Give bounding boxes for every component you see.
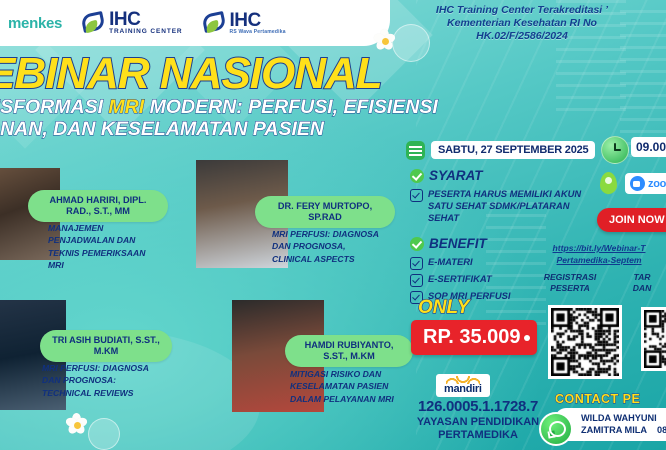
qr-code-tarif[interactable] [641,307,666,371]
speaker-2-name: DR. FERY MURTOPO, SP.RAD [255,196,395,228]
speaker-4-name: HAMDI RUBIYANTO, S.ST., M.KM [285,335,413,367]
contact-row-1: WILDA WAHYUNI 08 [581,412,666,424]
bubble-decor-2 [88,418,120,450]
mandiri-bank-logo: mandiri [436,374,490,397]
kemenkes-logo: menkes [8,15,62,32]
calendar-icon [406,141,425,160]
syarat-item-text: PESERTA HARUS MEMILIKI AKUN SATU SEHAT S… [428,188,590,225]
speaker-1-topic: MANAJEMEN PENJADWALAN DAN TEKNIS PEMERIK… [48,222,158,272]
speaker-2-topic: MRI PERFUSI: DIAGNOSA DAN PROGNOSA, CLIN… [272,228,382,265]
webinar-poster: menkes IHC TRAINING CENTER IHC RS Wava P… [0,0,666,450]
subtitle-highlight: MRI [108,96,144,118]
check-circle-icon-benefit [410,237,424,251]
zoom-icon [630,176,645,191]
contact-person-card: WILDA WAHYUNI 08 ZAMITRA MILA 08 [555,408,666,441]
zoom-label: zoo [648,178,666,190]
benefit-item-text-2: E-SERTIFIKAT [428,273,492,287]
price-amount: RP. 35.009 [411,320,537,355]
speaker-3-name: TRI ASIH BUDIATI, S.ST., M.KM [40,330,172,362]
checkbox-icon-syarat-1 [410,189,423,202]
bank-account-name: YAYASAN PENDIDIKAN PERTAMEDIKA [396,416,560,441]
mandiri-label: mandiri [444,384,482,395]
checkbox-icon-benefit-1 [410,257,423,270]
registration-link-block[interactable]: https://bit.ly/Webinar-T Pertamedika-Sep… [524,243,666,266]
event-date: SABTU, 27 SEPTEMBER 2025 [431,141,595,159]
registration-link-line-2[interactable]: Pertamedika-Septem [524,255,666,267]
location-pin-icon [600,172,617,194]
ihc-training-center-logo: IHC TRAINING CENTER [80,10,182,36]
poster-heading: EBINAR NASIONAL [0,52,406,95]
price-only-label: ONLY [418,297,469,319]
syarat-item: PESERTA HARUS MEMILIKI AKUN SATU SEHAT S… [410,188,590,225]
qr-code-registration[interactable] [548,305,622,379]
speaker-1-name: AHMAD HARIRI, DIPL. RAD., S.T., MM [28,190,168,222]
poster-title-block: EBINAR NASIONAL NSFORMASI MRI MODERN: PE… [0,52,406,141]
clock-icon [601,136,629,164]
benefit-item-text-1: E-MATERI [428,256,473,270]
contact-person-block: CONTACT PE WILDA WAHYUNI 08 ZAMITRA MILA… [555,392,666,441]
subtitle-line-2: ANAN, DAN KESELAMATAN PASIEN [0,119,406,141]
ihc-logo-subtext: TRAINING CENTER [109,29,182,36]
whatsapp-icon [539,412,573,446]
syarat-list: PESERTA HARUS MEMILIKI AKUN SATU SEHAT S… [410,188,590,225]
ihc-logo-text-2: IHC [230,11,286,30]
syarat-heading: SYARAT [410,168,483,183]
registration-link-line-1[interactable]: https://bit.ly/Webinar-T [524,243,666,255]
contact-row-2: ZAMITRA MILA 08 [581,424,666,436]
event-time: 09.00 [631,137,666,157]
logo-bar: menkes IHC TRAINING CENTER IHC RS Wava P… [0,0,390,46]
benefit-title: BENEFIT [429,236,487,251]
zoom-platform-badge: zoo [625,173,666,194]
subtitle-part-b: MODERN: PERFUSI, EFISIENSI [144,96,438,118]
check-circle-icon-syarat [410,169,424,183]
ihc-logo-subtext-2: RS Wava Pertamedika [230,30,286,36]
qr-registration-label: REGISTRASI PESERTA [530,272,610,293]
ihc-logo-text: IHC [109,10,182,29]
speaker-4-topic: MITIGASI RISIKO DAN KESELAMATAN PASIEN D… [290,368,398,405]
contact-name-2: ZAMITRA MILA [581,424,647,436]
contact-person-title: CONTACT PE [555,392,666,406]
accreditation-line-1: IHC Training Center Terakreditasi ’ [372,4,666,17]
ihc-leaf-icon-2 [201,11,225,35]
checkbox-icon-benefit-2 [410,274,423,287]
speaker-3-topic: MRI PERFUSI: DIAGNOSA DAN PROGNOSA: TECH… [42,362,162,399]
poster-subtitle: NSFORMASI MRI MODERN: PERFUSI, EFISIENSI… [0,97,406,141]
syarat-title: SYARAT [429,168,483,183]
contact-name-1: WILDA WAHYUNI [581,412,657,424]
event-date-row: SABTU, 27 SEPTEMBER 2025 [406,136,629,164]
ihc-pertamedika-logo: IHC RS Wava Pertamedika [201,11,286,36]
subtitle-part-a: NSFORMASI [0,96,108,118]
ihc-leaf-icon [80,11,104,35]
qr-tarif-label: TAR DAN [616,272,666,293]
flower-icon-2 [64,412,90,438]
contact-phone-2: 08 [657,424,666,436]
join-now-button[interactable]: JOIN NOW [597,208,666,232]
benefit-heading: BENEFIT [410,236,487,251]
bank-account-number: 126.0005.1.1728.7 [398,398,558,415]
